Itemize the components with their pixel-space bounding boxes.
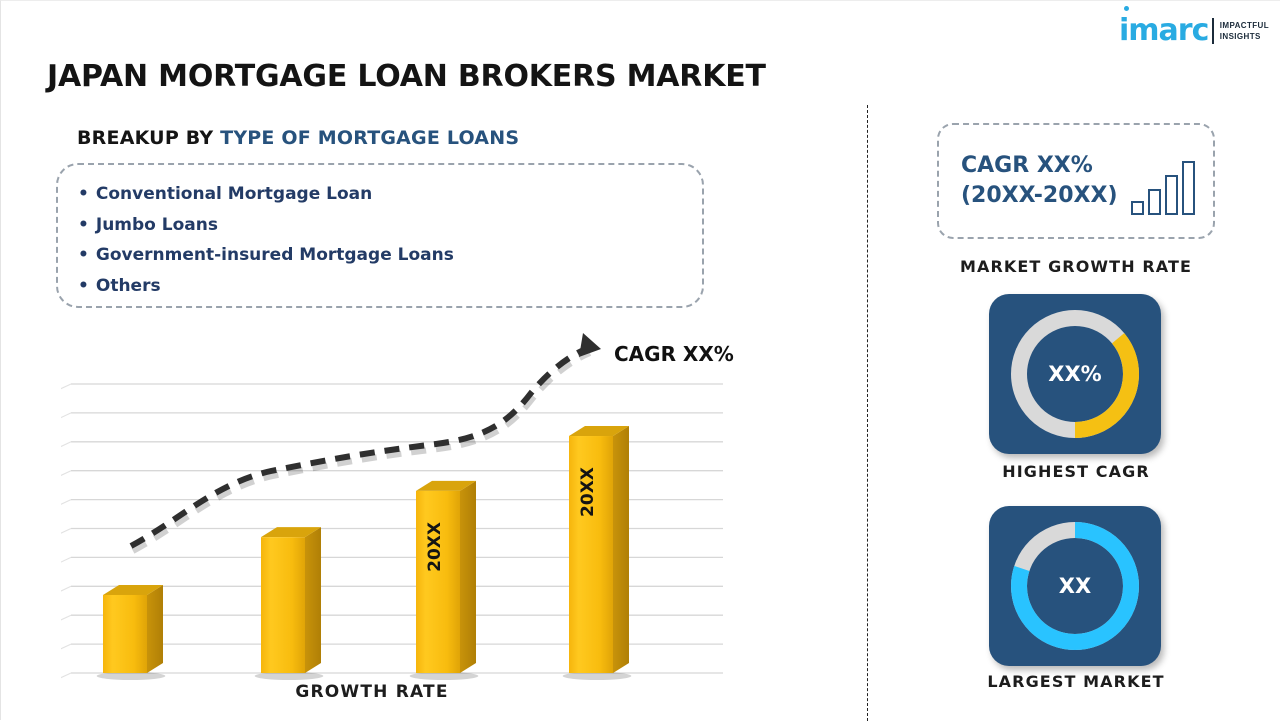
market-growth-rate-text: CAGR XX% (20XX-20XX) (961, 151, 1118, 211)
page-title: JAPAN MORTGAGE LOAN BROKERS MARKET (47, 59, 766, 94)
list-item-label: Jumbo Loans (96, 215, 218, 235)
growth-bars-icon (1131, 161, 1195, 215)
logo-tagline-line2: INSIGHTS (1220, 31, 1269, 42)
growth-bar-2 (1148, 189, 1161, 215)
list-item-label: Conventional Mortgage Loan (96, 184, 372, 204)
svg-text:20XX: 20XX (578, 467, 598, 517)
subtitle-accent: TYPE OF MORTGAGE LOANS (220, 127, 519, 149)
list-item: •Conventional Mortgage Loan (78, 179, 702, 210)
bullet-icon: • (78, 215, 89, 235)
segment-list: •Conventional Mortgage Loan •Jumbo Loans… (56, 163, 704, 308)
largest-market-value: XX (989, 506, 1161, 666)
logo-dot-icon (1124, 6, 1129, 11)
market-growth-rate-caption: MARKET GROWTH RATE (937, 257, 1215, 276)
highest-cagr-value: XX% (989, 294, 1161, 454)
largest-market-tile: XX (989, 506, 1161, 666)
logo-divider (1212, 18, 1213, 44)
list-item: •Others (78, 271, 702, 302)
bullet-icon: • (78, 184, 89, 204)
growth-bar-3 (1165, 175, 1178, 215)
growth-bar-1 (1131, 201, 1144, 215)
logo-tagline: IMPACTFUL INSIGHTS (1220, 20, 1269, 42)
highest-cagr-caption: HIGHEST CAGR (937, 462, 1215, 481)
bullet-icon: • (78, 276, 89, 296)
logo-wordmark: imarc (1119, 16, 1208, 46)
chart-cagr-annotation: CAGR XX% (614, 342, 734, 366)
section-divider (867, 105, 868, 721)
growth-bar-chart: 20XX20XX (61, 331, 761, 711)
largest-market-caption: LARGEST MARKET (937, 672, 1215, 691)
list-item-label: Others (96, 276, 161, 296)
svg-text:20XX: 20XX (425, 522, 445, 572)
list-item: •Jumbo Loans (78, 210, 702, 241)
growth-bar-4 (1182, 161, 1195, 215)
cagr-line-2: (20XX-20XX) (961, 181, 1118, 211)
market-growth-rate-card: CAGR XX% (20XX-20XX) (937, 123, 1215, 239)
chart-x-axis-label: GROWTH RATE (1, 682, 743, 702)
breakup-subtitle: BREAKUP BY TYPE OF MORTGAGE LOANS (77, 127, 519, 149)
list-item-label: Government-insured Mortgage Loans (96, 245, 454, 265)
imarc-logo: imarc IMPACTFUL INSIGHTS (1119, 13, 1269, 49)
logo-tagline-line1: IMPACTFUL (1220, 20, 1269, 31)
subtitle-prefix: BREAKUP BY (77, 127, 220, 149)
highest-cagr-tile: XX% (989, 294, 1161, 454)
bullet-icon: • (78, 245, 89, 265)
cagr-line-1: CAGR XX% (961, 151, 1118, 181)
chart-canvas: 20XX20XX (61, 331, 761, 711)
infographic-root: imarc IMPACTFUL INSIGHTS JAPAN MORTGAGE … (0, 0, 1280, 720)
list-item: •Government-insured Mortgage Loans (78, 240, 702, 271)
